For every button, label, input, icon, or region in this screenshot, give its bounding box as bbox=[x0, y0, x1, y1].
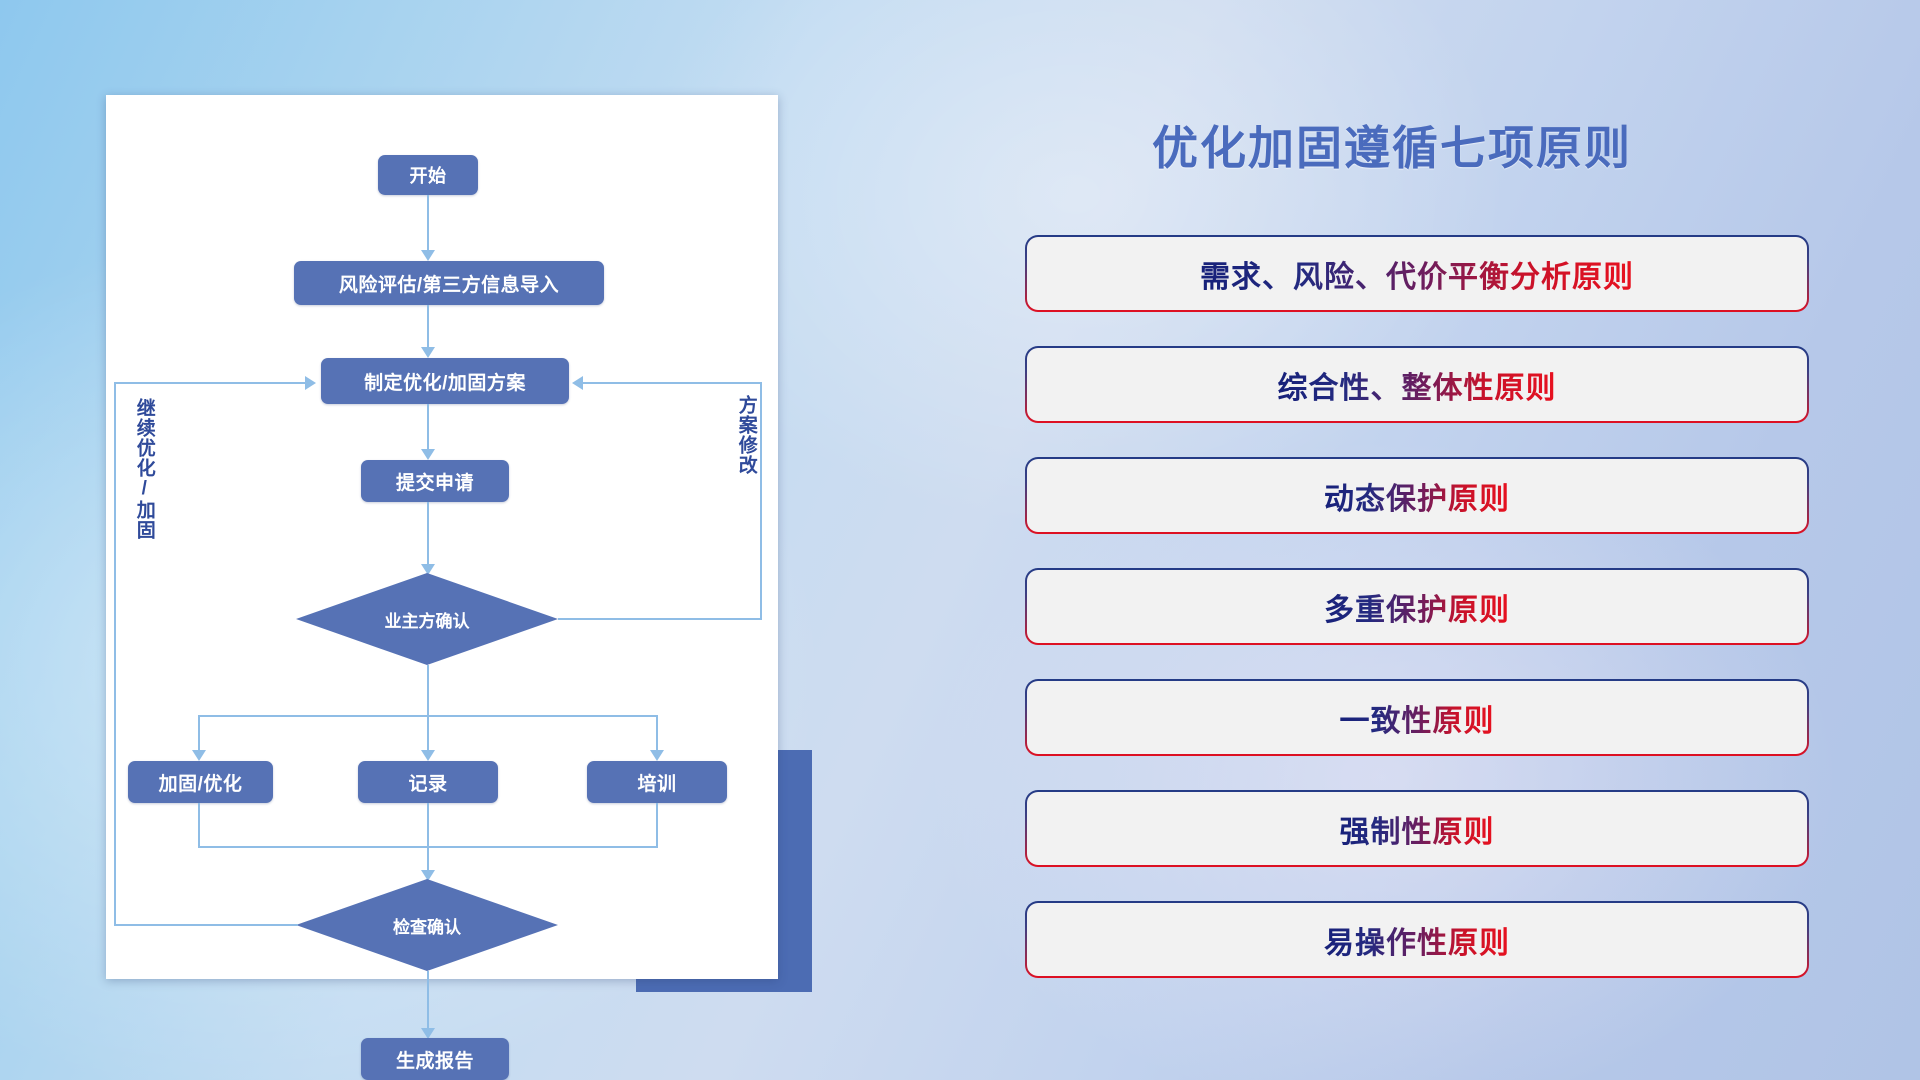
flow-node-owner-confirm-label: 业主方确认 bbox=[385, 607, 470, 632]
flow-node-plan[interactable]: 制定优化/加固方案 bbox=[321, 358, 569, 404]
connector-rightloop-h-top bbox=[583, 382, 762, 384]
flow-node-record-label: 记录 bbox=[408, 769, 447, 796]
connector-fanout-left bbox=[198, 715, 200, 753]
connector-risk-plan bbox=[427, 305, 429, 350]
flow-node-start[interactable]: 开始 bbox=[378, 155, 478, 195]
flow-node-training[interactable]: 培训 bbox=[587, 761, 727, 803]
arrowhead-fanout-left bbox=[192, 750, 206, 761]
connector-fanout-right bbox=[656, 715, 658, 753]
connector-fanin-right bbox=[656, 803, 658, 848]
principle-card-label: 动态保护原则 bbox=[1324, 474, 1510, 518]
connector-leftloop-h-top bbox=[114, 382, 307, 384]
edge-label-plan-revise: 方案修改 bbox=[736, 395, 756, 475]
arrowhead-leftloop-plan bbox=[305, 376, 316, 390]
flow-node-inspect-confirm-label: 检查确认 bbox=[393, 913, 461, 938]
page-title: 优化加固遵循七项原则 bbox=[1152, 112, 1632, 178]
principle-card-label: 需求、风险、代价平衡分析原则 bbox=[1200, 252, 1634, 296]
principle-card[interactable]: 多重保护原则 bbox=[1027, 570, 1807, 643]
connector-start-risk bbox=[427, 195, 429, 253]
arrowhead-start-risk bbox=[421, 250, 435, 261]
principle-card[interactable]: 一致性原则 bbox=[1027, 681, 1807, 754]
connector-fanout-mid bbox=[427, 715, 429, 753]
principle-card[interactable]: 综合性、整体性原则 bbox=[1027, 348, 1807, 421]
connector-rightloop-v bbox=[760, 382, 762, 620]
connector-fanin-left bbox=[198, 803, 200, 848]
principle-card-label: 强制性原则 bbox=[1340, 807, 1495, 851]
flow-node-start-label: 开始 bbox=[410, 162, 447, 188]
principle-card[interactable]: 强制性原则 bbox=[1027, 792, 1807, 865]
flow-node-risk-assessment[interactable]: 风险评估/第三方信息导入 bbox=[294, 261, 604, 305]
flow-node-record[interactable]: 记录 bbox=[358, 761, 498, 803]
flowchart-card: 开始 风险评估/第三方信息导入 制定优化/加固方案 提交申请 业主方确认 bbox=[106, 95, 778, 979]
flow-node-inspect-confirm[interactable]: 检查确认 bbox=[296, 879, 558, 971]
flow-node-owner-confirm[interactable]: 业主方确认 bbox=[296, 573, 558, 665]
slide-root: 开始 风险评估/第三方信息导入 制定优化/加固方案 提交申请 业主方确认 bbox=[0, 0, 1920, 1080]
connector-leftloop-v bbox=[114, 382, 116, 926]
connector-fanin-mid bbox=[427, 803, 429, 873]
flow-node-reinforce-label: 加固/优化 bbox=[159, 769, 243, 796]
flow-node-reinforce[interactable]: 加固/优化 bbox=[128, 761, 273, 803]
flow-node-submit-label: 提交申请 bbox=[396, 468, 474, 495]
principle-card[interactable]: 易操作性原则 bbox=[1027, 903, 1807, 976]
flow-node-risk-assessment-label: 风险评估/第三方信息导入 bbox=[339, 270, 559, 297]
principle-card[interactable]: 动态保护原则 bbox=[1027, 459, 1807, 532]
flow-node-training-label: 培训 bbox=[637, 769, 676, 796]
connector-leftloop-h-bottom bbox=[114, 924, 298, 926]
flow-node-report[interactable]: 生成报告 bbox=[361, 1038, 509, 1080]
principle-card-label: 多重保护原则 bbox=[1324, 585, 1510, 629]
arrowhead-fanout-mid bbox=[421, 750, 435, 761]
arrowhead-plan-submit bbox=[421, 449, 435, 460]
connector-plan-submit bbox=[427, 404, 429, 452]
flow-node-report-label: 生成报告 bbox=[396, 1046, 474, 1073]
connector-ownercheck-down bbox=[427, 665, 429, 717]
principle-card-label: 一致性原则 bbox=[1340, 696, 1495, 740]
connector-inspect-report bbox=[427, 971, 429, 1031]
connector-rightloop-h-bottom bbox=[558, 618, 762, 620]
principles-list: 需求、风险、代价平衡分析原则 综合性、整体性原则 动态保护原则 多重保护原则 一… bbox=[1027, 237, 1807, 1014]
principle-card-label: 易操作性原则 bbox=[1324, 918, 1510, 962]
connector-submit-ownercheck bbox=[427, 502, 429, 567]
arrowhead-risk-plan bbox=[421, 347, 435, 358]
arrowhead-fanout-right bbox=[650, 750, 664, 761]
flow-node-submit[interactable]: 提交申请 bbox=[361, 460, 509, 502]
principle-card[interactable]: 需求、风险、代价平衡分析原则 bbox=[1027, 237, 1807, 310]
principle-card-label: 综合性、整体性原则 bbox=[1278, 363, 1557, 407]
arrowhead-rightloop-plan bbox=[572, 376, 583, 390]
flow-node-plan-label: 制定优化/加固方案 bbox=[364, 368, 526, 395]
edge-label-continue-optimize: 继续优化/加固 bbox=[134, 398, 154, 540]
